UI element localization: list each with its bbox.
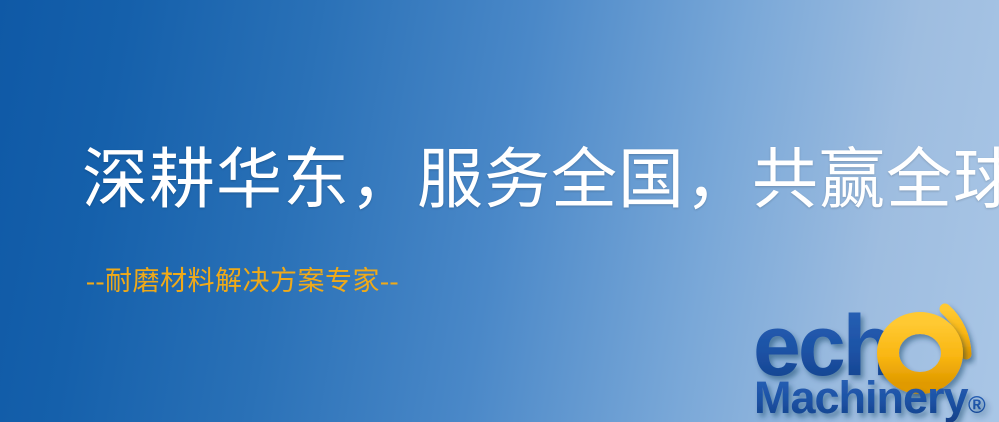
page-subtitle: --耐磨材料解决方案专家-- (86, 268, 399, 295)
svg-text:®: ® (968, 392, 986, 419)
company-logo[interactable]: ech Machinery ® (752, 296, 999, 422)
page-title: 深耕华东，服务全国，共赢全球 (82, 148, 999, 214)
hero-banner: 深耕华东，服务全国，共赢全球 --耐磨材料解决方案专家-- (0, 0, 999, 422)
logo-machinery-text: Machinery ® (754, 372, 986, 422)
svg-text:Machinery: Machinery (754, 372, 969, 422)
